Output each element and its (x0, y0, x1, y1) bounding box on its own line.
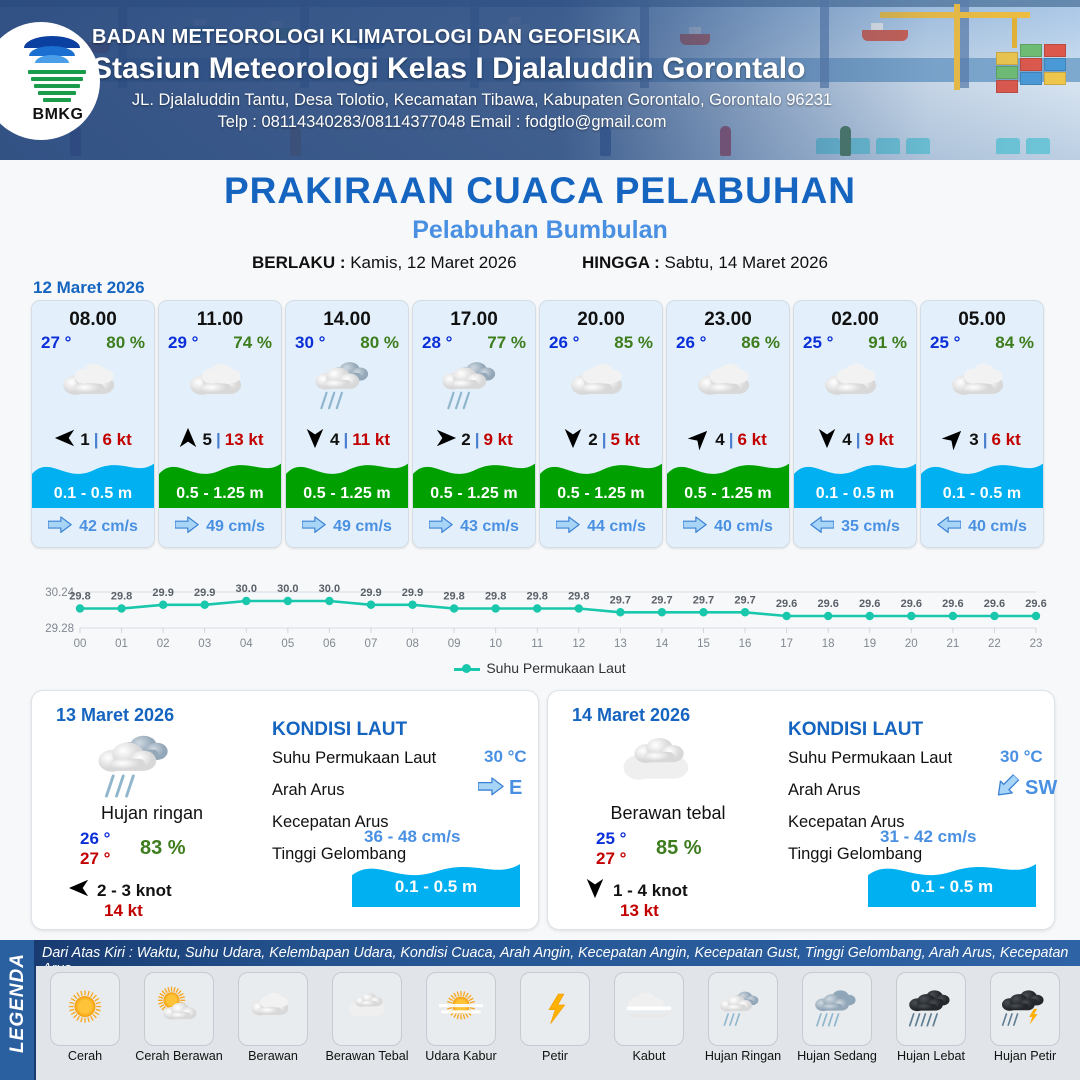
card-temperature: 26 ° (549, 333, 579, 353)
svg-text:01: 01 (115, 638, 128, 650)
weather-icon-kabut (614, 972, 684, 1046)
weather-icon-berawan (238, 972, 308, 1046)
wave-height-label: 0.1 - 0.5 m (921, 485, 1043, 503)
current-speed-value: 43 cm/s (460, 518, 519, 536)
current-direction-arrow-icon (937, 516, 961, 538)
separator: | (983, 430, 988, 450)
weather-icon-berawan (667, 357, 789, 419)
daily-forecast-panel: 14 Maret 2026 Berawan tebal 25 ° 27 ° 85… (547, 690, 1055, 930)
svg-text:29.6: 29.6 (859, 598, 880, 610)
current-direction-value: SW (1025, 777, 1057, 800)
card-current: 42 cm/s (32, 513, 154, 541)
separator: | (216, 430, 221, 450)
sea-row-label: Arah Arus (788, 781, 860, 800)
wave-height-label: 0.5 - 1.25 m (286, 485, 408, 503)
current-speed-value: 49 cm/s (333, 518, 392, 536)
card-temperature: 29 ° (168, 333, 198, 353)
svg-text:29.9: 29.9 (402, 587, 423, 599)
gust-value: 6 kt (991, 430, 1020, 450)
legend-item: Hujan Petir (978, 972, 1072, 1063)
current-direction-arrow-icon (429, 516, 453, 538)
current-speed-value: 40 cm/s (714, 518, 773, 536)
card-time: 20.00 (540, 309, 662, 331)
card-current: 35 cm/s (794, 513, 916, 541)
wave-height-label: 0.5 - 1.25 m (540, 485, 662, 503)
svg-text:29.6: 29.6 (901, 598, 922, 610)
svg-text:30.0: 30.0 (319, 583, 340, 595)
weather-icon-berawan (159, 357, 281, 419)
legend-item: Petir (508, 972, 602, 1063)
card-current: 49 cm/s (286, 513, 408, 541)
logo-label: BMKG (16, 106, 100, 124)
legend-item-label: Berawan (226, 1049, 320, 1063)
svg-text:03: 03 (198, 638, 211, 650)
card-humidity: 85 % (614, 333, 653, 353)
legend-item-label: Kabut (602, 1049, 696, 1063)
current-speed-value: 40 cm/s (968, 518, 1027, 536)
weather-icon-berawan-tebal (596, 729, 716, 805)
panel-wind-range: 1 - 4 knot (613, 881, 688, 901)
svg-text:29.6: 29.6 (942, 598, 963, 610)
svg-text:29.8: 29.8 (69, 591, 90, 603)
card-humidity: 77 % (487, 333, 526, 353)
card-temperature: 28 ° (422, 333, 452, 353)
panel-temp-min: 26 ° (80, 829, 110, 849)
current-direction-row: E (478, 777, 522, 801)
gust-value: 6 kt (737, 430, 766, 450)
card-current: 43 cm/s (413, 513, 535, 541)
separator: | (602, 430, 607, 450)
legend-side-bar: LEGENDA (0, 940, 34, 1080)
svg-text:18: 18 (822, 638, 835, 650)
sea-row-label: Suhu Permukaan Laut (788, 749, 952, 768)
gust-value: 9 kt (864, 430, 893, 450)
hourly-card: 05.00 25 ° 84 % 3 | 6 kt 0.1 - 0.5 m 40 (920, 300, 1044, 548)
current-direction-arrow-icon (683, 516, 707, 538)
weather-icon-hujan-ringan (413, 357, 535, 419)
panel-gust: 14 kt (104, 901, 143, 921)
svg-text:22: 22 (988, 638, 1001, 650)
legend-item-label: Petir (508, 1049, 602, 1063)
gust-value: 6 kt (102, 430, 131, 450)
wind-speed-value: 2 (461, 430, 470, 450)
svg-text:14: 14 (656, 638, 669, 650)
svg-text:05: 05 (281, 638, 294, 650)
card-time: 17.00 (413, 309, 535, 331)
svg-text:00: 00 (74, 638, 87, 650)
svg-text:29.6: 29.6 (776, 598, 797, 610)
wind-speed-value: 4 (330, 430, 339, 450)
weather-icon-udara-kabur (426, 972, 496, 1046)
chart-legend-marker (454, 668, 480, 671)
wind-direction-arrow-icon (584, 877, 606, 904)
card-temperature: 30 ° (295, 333, 325, 353)
current-speed-value: 35 cm/s (841, 518, 900, 536)
card-temperature: 27 ° (41, 333, 71, 353)
station-address: JL. Djalaluddin Tantu, Desa Tolotio, Kec… (92, 91, 872, 110)
svg-text:29.7: 29.7 (651, 594, 672, 606)
current-direction-arrow-icon (994, 777, 1020, 801)
svg-text:16: 16 (739, 638, 752, 650)
weather-icon-berawan (32, 357, 154, 419)
card-time: 02.00 (794, 309, 916, 331)
svg-text:29.6: 29.6 (1025, 598, 1046, 610)
card-humidity: 80 % (360, 333, 399, 353)
weather-icon-berawan (794, 357, 916, 419)
legend-item: Udara Kabur (414, 972, 508, 1063)
svg-text:29.8: 29.8 (443, 591, 464, 603)
card-current: 44 cm/s (540, 513, 662, 541)
current-direction-value: E (509, 777, 522, 800)
legend-items: Cerah Cerah Berawan Berawan Berawan Teba… (36, 966, 1080, 1080)
chart-legend: Suhu Permukaan Laut (0, 660, 1080, 676)
berlaku-label: BERLAKU : (252, 253, 346, 272)
current-speed-value: 44 cm/s (587, 518, 646, 536)
svg-text:29.9: 29.9 (152, 587, 173, 599)
current-speed-value: 42 cm/s (79, 518, 138, 536)
current-speed-value: 49 cm/s (206, 518, 265, 536)
validity-range: BERLAKU : Kamis, 12 Maret 2026 HINGGA : … (0, 253, 1080, 273)
sea-conditions-title: KONDISI LAUT (788, 719, 923, 741)
svg-text:30.0: 30.0 (277, 583, 298, 595)
page-title: PRAKIRAAN CUACA PELABUHAN (0, 170, 1080, 212)
svg-text:29.9: 29.9 (194, 587, 215, 599)
svg-text:29.7: 29.7 (734, 594, 755, 606)
legend-item: Hujan Sedang (790, 972, 884, 1063)
current-speed-value: 31 - 42 cm/s (880, 827, 976, 847)
card-current: 49 cm/s (159, 513, 281, 541)
separator: | (856, 430, 861, 450)
panel-date: 14 Maret 2026 (572, 705, 690, 726)
separator: | (94, 430, 99, 450)
hourly-card: 14.00 30 ° 80 % 4 | 11 kt 0.5 - 1.25 m 4 (285, 300, 409, 548)
panel-wind-range: 2 - 3 knot (97, 881, 172, 901)
legend-item-label: Udara Kabur (414, 1049, 508, 1063)
weather-icon-cerah-berawan (144, 972, 214, 1046)
page-header: BMKG BADAN METEOROLOGI KLIMATOLOGI DAN G… (0, 0, 1080, 160)
legend-item-label: Berawan Tebal (320, 1049, 414, 1063)
legend-item-label: Cerah Berawan (132, 1049, 226, 1063)
page-subtitle: Pelabuhan Bumbulan (0, 216, 1080, 245)
legend-item-label: Hujan Petir (978, 1049, 1072, 1063)
legend-item: Kabut (602, 972, 696, 1063)
panel-temp-max: 27 ° (596, 849, 626, 869)
hourly-card: 02.00 25 ° 91 % 4 | 9 kt 0.1 - 0.5 m 35 (793, 300, 917, 548)
legend-side-label: LEGENDA (7, 947, 29, 1059)
legend-item-label: Hujan Sedang (790, 1049, 884, 1063)
card-current: 40 cm/s (667, 513, 789, 541)
svg-text:02: 02 (157, 638, 170, 650)
card-humidity: 74 % (233, 333, 272, 353)
panel-humidity: 83 % (140, 837, 186, 860)
card-time: 11.00 (159, 309, 281, 331)
legend-item: Hujan Ringan (696, 972, 790, 1063)
hourly-date: 12 Maret 2026 (33, 278, 145, 298)
station-contact: Telp : 08114340283/08114377048 Email : f… (92, 113, 792, 132)
svg-text:29.6: 29.6 (984, 598, 1005, 610)
weather-icon-hujan-petir (990, 972, 1060, 1046)
hingga-label: HINGGA : (582, 253, 660, 272)
wave-height-label: 0.5 - 1.25 m (413, 485, 535, 503)
card-time: 14.00 (286, 309, 408, 331)
hourly-card: 11.00 29 ° 74 % 5 | 13 kt 0.5 - 1.25 m 4 (158, 300, 282, 548)
separator: | (343, 430, 348, 450)
svg-text:21: 21 (946, 638, 959, 650)
legend-item: Cerah Berawan (132, 972, 226, 1063)
wind-speed-value: 3 (969, 430, 978, 450)
wind-direction-arrow-icon (68, 877, 90, 904)
gust-value: 9 kt (483, 430, 512, 450)
wind-speed-value: 5 (203, 430, 212, 450)
berlaku-value: Kamis, 12 Maret 2026 (350, 253, 516, 272)
legend-item-label: Cerah (38, 1049, 132, 1063)
station-name: Stasiun Meteorologi Kelas I Djalaluddin … (92, 52, 992, 86)
svg-text:06: 06 (323, 638, 336, 650)
sea-surface-temp-value: 30 °C (1000, 747, 1043, 767)
weather-icon-hujan-sedang (802, 972, 872, 1046)
wave-height-label: 0.1 - 0.5 m (868, 877, 1036, 897)
panel-temp-max: 27 ° (80, 849, 110, 869)
wave-height-label: 0.5 - 1.25 m (667, 485, 789, 503)
gust-value: 13 kt (225, 430, 264, 450)
legend-item: Berawan Tebal (320, 972, 414, 1063)
card-temperature: 26 ° (676, 333, 706, 353)
card-time: 05.00 (921, 309, 1043, 331)
svg-text:29.9: 29.9 (360, 587, 381, 599)
panel-wind: 1 - 4 knot (584, 877, 688, 904)
svg-text:29.6: 29.6 (817, 598, 838, 610)
svg-text:11: 11 (531, 638, 543, 650)
separator: | (475, 430, 480, 450)
svg-text:04: 04 (240, 638, 253, 650)
wave-height-label: 0.1 - 0.5 m (352, 877, 520, 897)
svg-text:20: 20 (905, 638, 918, 650)
svg-text:29.8: 29.8 (111, 591, 132, 603)
current-direction-arrow-icon (175, 516, 199, 538)
current-direction-arrow-icon (478, 777, 504, 801)
sea-surface-temperature-chart: 30.2429.28000102030405060708091011121314… (28, 558, 1052, 658)
daily-forecast-panel: 13 Maret 2026 Hujan ringan 26 ° 27 ° 83 … (31, 690, 539, 930)
svg-text:29.7: 29.7 (610, 594, 631, 606)
weather-icon-hujan-ringan (708, 972, 778, 1046)
sea-conditions-title: KONDISI LAUT (272, 719, 407, 741)
card-current: 40 cm/s (921, 513, 1043, 541)
panel-condition: Hujan ringan (32, 803, 272, 824)
sea-row-label: Arah Arus (272, 781, 344, 800)
svg-text:10: 10 (489, 638, 502, 650)
current-direction-arrow-icon (810, 516, 834, 538)
current-direction-arrow-icon (48, 516, 72, 538)
wind-speed-value: 2 (588, 430, 597, 450)
svg-text:29.7: 29.7 (693, 594, 714, 606)
current-speed-value: 36 - 48 cm/s (364, 827, 460, 847)
hourly-card: 08.00 27 ° 80 % 1 | 6 kt 0.1 - 0.5 m 42 (31, 300, 155, 548)
weather-icon-hujan-ringan (80, 729, 200, 805)
wind-speed-value: 1 (80, 430, 89, 450)
svg-text:17: 17 (780, 638, 793, 650)
current-direction-row: SW (994, 777, 1057, 801)
svg-text:12: 12 (572, 638, 585, 650)
agency-name: BADAN METEOROLOGI KLIMATOLOGI DAN GEOFIS… (92, 26, 992, 49)
card-humidity: 84 % (995, 333, 1034, 353)
panel-condition: Berawan tebal (548, 803, 788, 824)
card-temperature: 25 ° (803, 333, 833, 353)
weather-icon-berawan-tebal (332, 972, 402, 1046)
current-direction-arrow-icon (556, 516, 580, 538)
hourly-card: 23.00 26 ° 86 % 4 | 6 kt 0.5 - 1.25 m 40 (666, 300, 790, 548)
legend-strip: LEGENDA Dari Atas Kiri : Waktu, Suhu Uda… (0, 940, 1080, 1080)
weather-icon-hujan-ringan (286, 357, 408, 419)
wind-speed-value: 4 (715, 430, 724, 450)
svg-text:29.28: 29.28 (45, 623, 74, 635)
panel-date: 13 Maret 2026 (56, 705, 174, 726)
weather-icon-hujan-lebat (896, 972, 966, 1046)
svg-text:08: 08 (406, 638, 419, 650)
wave-height-label: 0.1 - 0.5 m (32, 485, 154, 503)
sea-surface-temp-value: 30 °C (484, 747, 527, 767)
chart-legend-label: Suhu Permukaan Laut (486, 660, 625, 676)
card-humidity: 86 % (741, 333, 780, 353)
svg-text:19: 19 (863, 638, 876, 650)
weather-icon-cerah (50, 972, 120, 1046)
wave-height-label: 0.5 - 1.25 m (159, 485, 281, 503)
legend-item: Cerah (38, 972, 132, 1063)
svg-text:09: 09 (448, 638, 461, 650)
card-humidity: 80 % (106, 333, 145, 353)
hourly-card: 20.00 26 ° 85 % 2 | 5 kt 0.5 - 1.25 m 44 (539, 300, 663, 548)
hingga-value: Sabtu, 14 Maret 2026 (665, 253, 829, 272)
legend-item: Hujan Lebat (884, 972, 978, 1063)
svg-text:29.8: 29.8 (527, 591, 548, 603)
wave-height-label: 0.1 - 0.5 m (794, 485, 916, 503)
card-humidity: 91 % (868, 333, 907, 353)
hourly-forecast-row: 08.00 27 ° 80 % 1 | 6 kt 0.1 - 0.5 m 42 (31, 300, 1049, 548)
svg-text:30.0: 30.0 (236, 583, 257, 595)
panel-temp-min: 25 ° (596, 829, 626, 849)
svg-text:15: 15 (697, 638, 710, 650)
weather-icon-berawan (540, 357, 662, 419)
legend-item-label: Hujan Ringan (696, 1049, 790, 1063)
gust-value: 11 kt (352, 430, 390, 450)
weather-icon-petir (520, 972, 590, 1046)
weather-icon-berawan (921, 357, 1043, 419)
bmkg-logo: BMKG (0, 22, 100, 140)
sea-row-label: Suhu Permukaan Laut (272, 749, 436, 768)
svg-text:23: 23 (1030, 638, 1043, 650)
wind-speed-value: 4 (842, 430, 851, 450)
panel-humidity: 85 % (656, 837, 702, 860)
svg-text:29.8: 29.8 (568, 591, 589, 603)
card-temperature: 25 ° (930, 333, 960, 353)
legend-item-label: Hujan Lebat (884, 1049, 978, 1063)
hourly-card: 17.00 28 ° 77 % 2 | 9 kt 0.5 - 1.25 m 43 (412, 300, 536, 548)
separator: | (729, 430, 734, 450)
panel-wind: 2 - 3 knot (68, 877, 172, 904)
legend-item: Berawan (226, 972, 320, 1063)
panel-gust: 13 kt (620, 901, 659, 921)
current-direction-arrow-icon (302, 516, 326, 538)
svg-text:29.8: 29.8 (485, 591, 506, 603)
svg-text:13: 13 (614, 638, 627, 650)
card-time: 23.00 (667, 309, 789, 331)
gust-value: 5 kt (610, 430, 639, 450)
svg-text:07: 07 (365, 638, 378, 650)
card-time: 08.00 (32, 309, 154, 331)
